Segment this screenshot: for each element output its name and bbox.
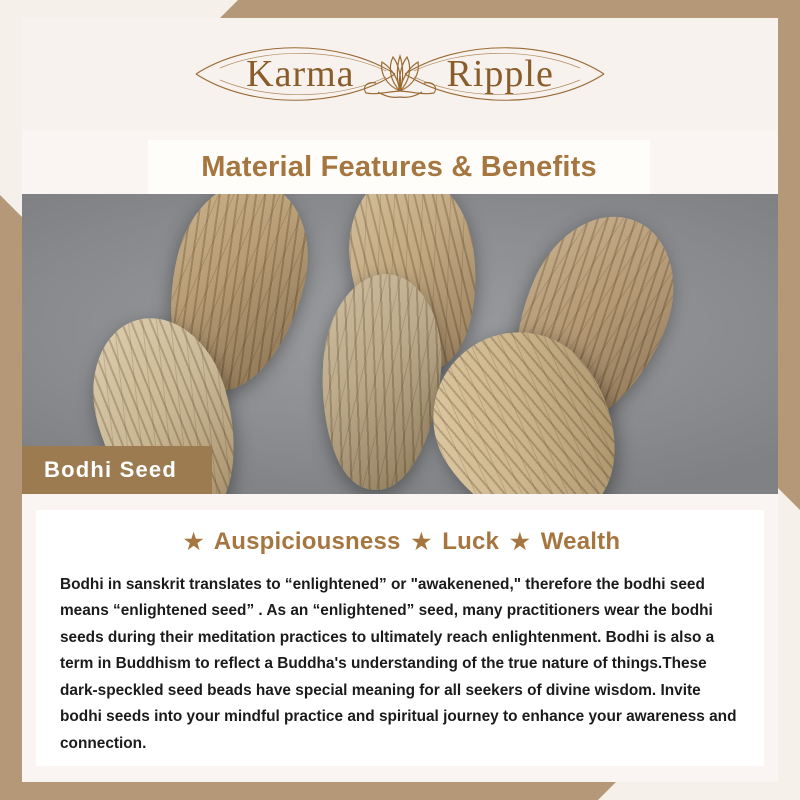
brand-logo: Karma Ripple [190, 35, 610, 113]
keyword-auspiciousness: Auspiciousness [214, 528, 401, 555]
description-card: ★ Auspiciousness ★ Luck ★ Wealth Bodhi i… [36, 510, 764, 766]
keyword-wealth: Wealth [541, 528, 620, 555]
brand-header: Karma Ripple [22, 18, 778, 130]
brand-wordmark: Karma Ripple [246, 52, 554, 96]
frame-band-left [0, 195, 22, 785]
star-icon: ★ [510, 529, 530, 554]
star-icon: ★ [184, 529, 204, 554]
frame-band-top [220, 0, 800, 18]
keyword-list: ★ Auspiciousness ★ Luck ★ Wealth [36, 528, 764, 556]
page-title: Material Features & Benefits [201, 151, 597, 184]
keyword-luck: Luck [442, 528, 499, 555]
description-section: ★ Auspiciousness ★ Luck ★ Wealth Bodhi i… [22, 494, 778, 782]
brand-name-left: Karma [246, 52, 354, 96]
title-banner: Material Features & Benefits [148, 140, 650, 194]
star-icon: ★ [411, 529, 431, 554]
infographic-page: Karma Ripple Material Features & Benefit… [0, 0, 800, 800]
brand-name-right: Ripple [447, 52, 554, 96]
photo-caption-label: Bodhi Seed [22, 457, 177, 483]
photo-caption-ribbon: Bodhi Seed [22, 446, 212, 494]
frame-band-right [778, 0, 800, 510]
description-paragraph: Bodhi in sanskrit translates to “enlight… [60, 572, 740, 757]
